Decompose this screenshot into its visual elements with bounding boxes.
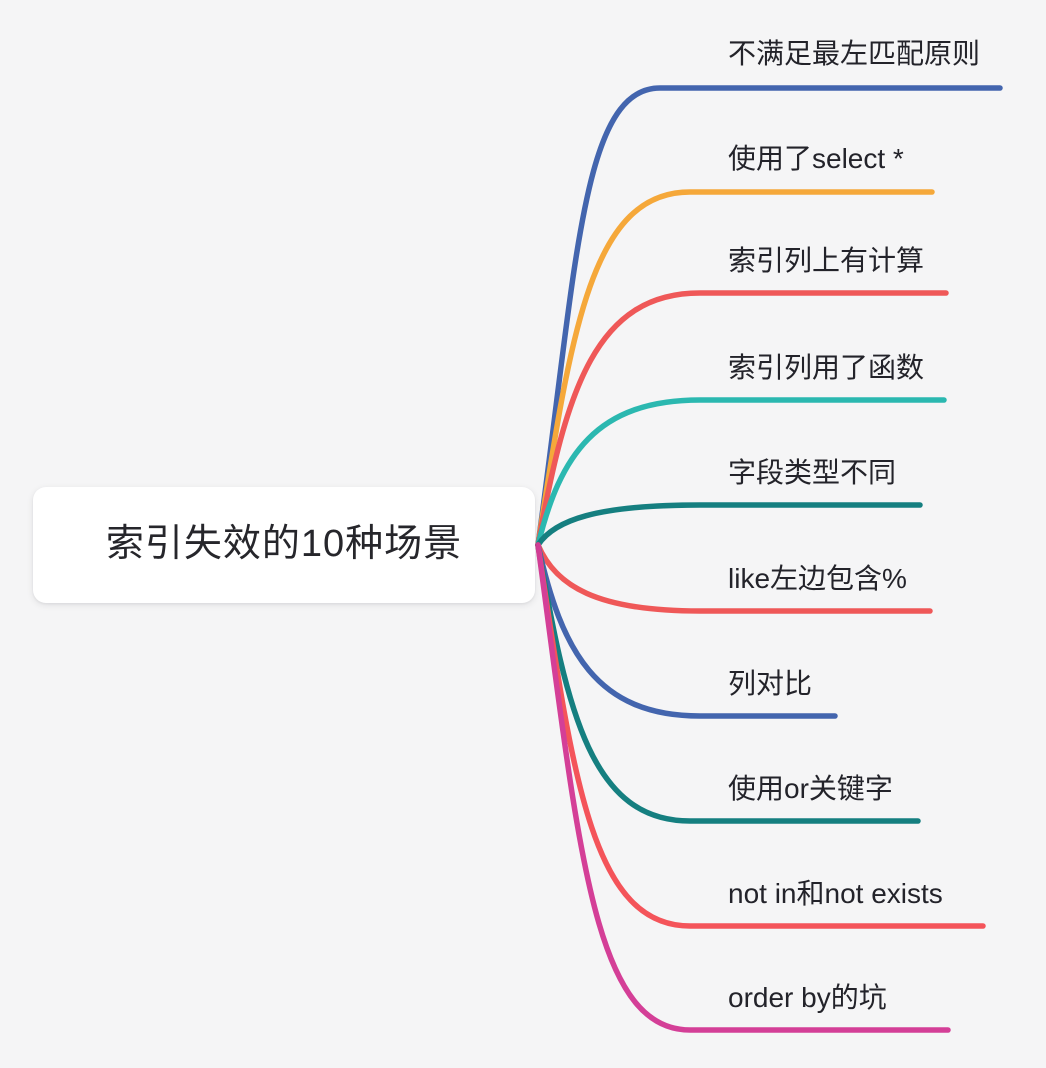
branch-label-4: 索引列用了函数	[728, 352, 924, 384]
branch-label-1: 不满足最左匹配原则	[728, 38, 980, 70]
branch-label-2: 使用了select *	[728, 143, 904, 175]
branch-label-8: 使用or关键字	[728, 773, 893, 805]
branch-label-5: 字段类型不同	[728, 457, 896, 489]
branch-label-6: like左边包含%	[728, 563, 907, 595]
branch-label-7: 列对比	[728, 668, 812, 700]
branch-connector-5	[538, 505, 920, 545]
branch-label-10: order by的坑	[728, 982, 887, 1014]
central-node-label: 索引失效的10种场景	[106, 522, 462, 568]
mindmap-canvas: 索引失效的10种场景 不满足最左匹配原则 使用了select * 索引列上有计算…	[0, 0, 1046, 1068]
central-node[interactable]: 索引失效的10种场景	[33, 487, 535, 603]
branch-label-9: not in和not exists	[728, 878, 943, 910]
branch-label-3: 索引列上有计算	[728, 245, 924, 277]
